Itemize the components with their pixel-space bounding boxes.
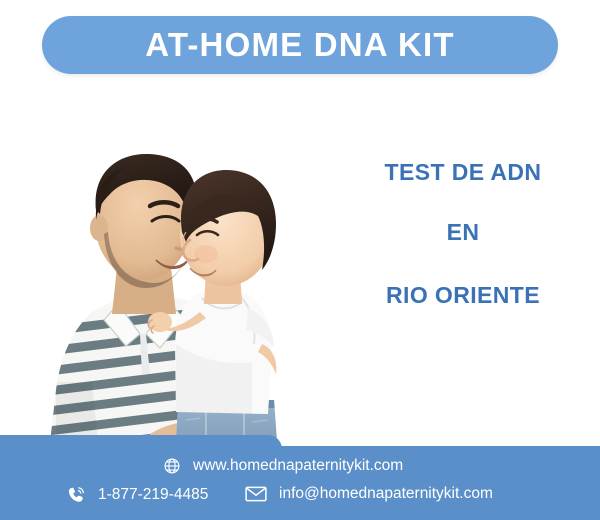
- footer-item-phone[interactable]: 1-877-219-4485: [66, 485, 208, 505]
- photo-illustration: [0, 82, 340, 460]
- footer-item-website[interactable]: www.homednapaternitykit.com: [163, 457, 403, 475]
- headline-line-1: TEST DE ADN: [330, 160, 596, 185]
- child-cheek: [194, 245, 218, 263]
- father-holding-toddler-photo: [0, 82, 340, 460]
- footer-website-label: www.homednapaternitykit.com: [193, 457, 403, 475]
- title-text: AT-HOME DNA KIT: [145, 26, 454, 64]
- envelope-icon: [245, 485, 267, 503]
- poster-canvas: AT-HOME DNA KIT: [0, 0, 600, 520]
- headline-block: TEST DE ADN EN RIO ORIENTE: [330, 160, 596, 308]
- globe-icon: [163, 457, 181, 475]
- footer-email-label: info@homednapaternitykit.com: [279, 485, 493, 503]
- footer-item-email[interactable]: info@homednapaternitykit.com: [245, 485, 493, 503]
- headline-line-3: RIO ORIENTE: [330, 283, 596, 308]
- footer-contact-list: www.homednapaternitykit.com 1-877-219-44…: [0, 435, 600, 520]
- headline-line-2: EN: [330, 220, 596, 245]
- phone-icon: [66, 485, 86, 505]
- footer-phone-label: 1-877-219-4485: [98, 486, 208, 504]
- footer-bar: www.homednapaternitykit.com 1-877-219-44…: [0, 435, 600, 520]
- title-banner: AT-HOME DNA KIT: [42, 16, 558, 74]
